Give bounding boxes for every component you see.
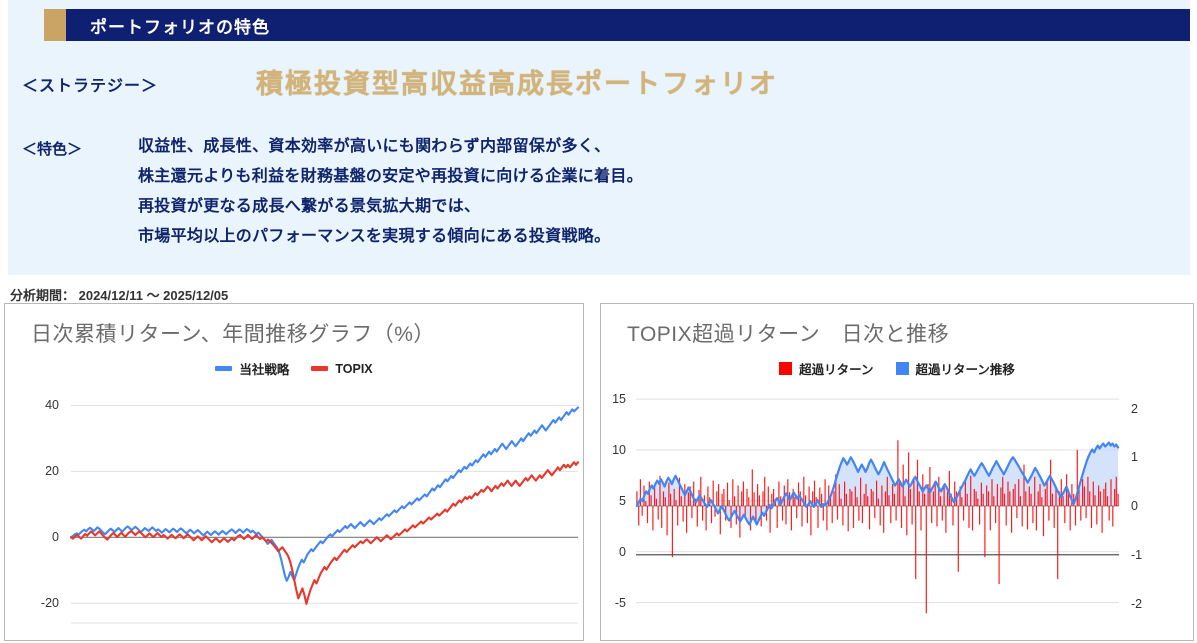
feature-lines: 収益性、成長性、資本効率が高いにも関わらず内部留保が多く、 株主還元よりも利益を… [138,132,643,252]
section-header-bar: ポートフォリオの特色 [44,9,1190,41]
excess-return-bars [636,440,1118,613]
plot-area-excess: 151050-5210-1-2 [601,304,1195,642]
feature-label: ＜特色＞ [22,138,82,159]
portfolio-info-panel: ポートフォリオの特色 ＜ストラテジー＞ 積極投資型高収益高成長ポートフォリオ ＜… [8,0,1190,275]
strategy-value: 積極投資型高収益高成長ポートフォリオ [256,62,778,101]
cumulative-return-svg [5,304,585,642]
excess-return-svg [601,304,1195,642]
axis-tick-label: 0 [23,530,59,544]
axis-tick-label: 15 [590,392,626,406]
plot-area-cumulative: 40200-20 [5,304,585,642]
axis-tick-label: 1 [1131,450,1138,464]
axis-tick-label: 40 [23,398,59,412]
excess-return-chart-panel: TOPIX超過リターン 日次と推移 超過リターン 超過リターン推移 151050… [600,303,1194,641]
header-accent-block [44,9,66,41]
axis-tick-label: 2 [1131,402,1138,416]
axis-tick-label: -20 [23,596,59,610]
feature-line: 株主還元よりも利益を財務基盤の安定や再投資に向ける企業に着目。 [138,162,643,192]
axis-tick-label: -1 [1131,548,1142,562]
axis-tick-label: -5 [590,596,626,610]
strategy-label: ＜ストラテジー＞ [22,72,158,96]
cumulative-return-chart-panel: 日次累積リターン、年間推移グラフ（%） 当社戦略 TOPIX 40200-20 [4,303,584,641]
axis-tick-label: 0 [590,545,626,559]
page-title: ポートフォリオの特色 [66,13,270,38]
feature-line: 収益性、成長性、資本効率が高いにも関わらず内部留保が多く、 [138,132,643,162]
axis-tick-label: 20 [23,464,59,478]
axis-tick-label: -2 [1131,597,1142,611]
feature-line: 再投資が更なる成長へ繋がる景気拡大期では、 [138,192,643,222]
feature-line: 市場平均以上のパフォーマンスを実現する傾向にある投資戦略。 [138,222,643,252]
strategy-row: ＜ストラテジー＞ 積極投資型高収益高成長ポートフォリオ [8,62,1190,108]
header-band: ポートフォリオの特色 [66,9,1190,41]
series-line-topix [71,462,578,604]
axis-tick-label: 0 [1131,499,1138,513]
axis-tick-label: 10 [590,443,626,457]
axis-tick-label: 5 [590,494,626,508]
series-line-strategy [71,408,578,581]
analysis-period: 分析期間： 2024/12/11 〜 2025/12/05 [10,285,228,304]
